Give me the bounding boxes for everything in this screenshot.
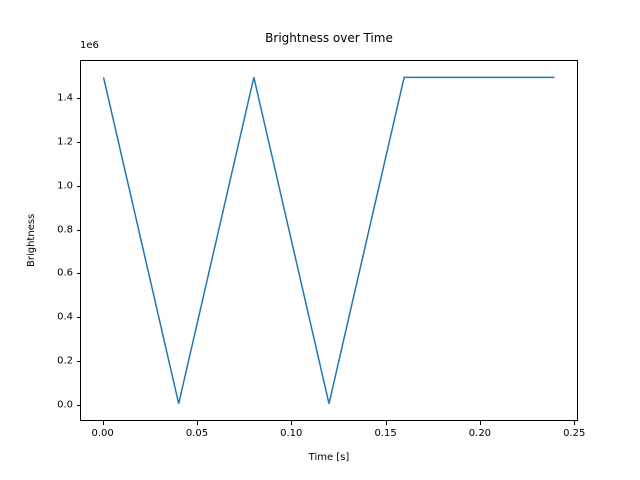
y-tick-label: 0.6: [28, 268, 73, 279]
y-tick-label: 0.4: [28, 312, 73, 323]
y-tick-mark: [77, 98, 81, 99]
y-tick-mark: [77, 361, 81, 362]
x-tick-mark: [291, 421, 292, 425]
y-tick-mark: [77, 273, 81, 274]
y-tick-label: 1.2: [28, 137, 73, 148]
x-tick-label: 0.00: [91, 428, 113, 439]
x-tick-label: 0.25: [563, 428, 585, 439]
y-tick-mark: [77, 230, 81, 231]
x-tick-mark: [103, 421, 104, 425]
figure-canvas: Brightness over Time 1e6 0.00.20.40.60.8…: [0, 0, 640, 480]
x-tick-label: 0.05: [186, 428, 208, 439]
data-line-plot: [81, 61, 577, 420]
x-axis-label: Time [s]: [80, 452, 578, 463]
x-tick-mark: [197, 421, 198, 425]
y-tick-mark: [77, 405, 81, 406]
y-tick-mark: [77, 142, 81, 143]
x-tick-label: 0.15: [374, 428, 396, 439]
chart-title: Brightness over Time: [80, 31, 578, 45]
y-tick-label: 0.2: [28, 355, 73, 366]
brightness-line-series: [104, 77, 555, 403]
y-axis-offset-label: 1e6: [80, 40, 99, 51]
x-tick-mark: [480, 421, 481, 425]
y-tick-label: 1.0: [28, 180, 73, 191]
x-tick-label: 0.20: [469, 428, 491, 439]
x-tick-label: 0.10: [280, 428, 302, 439]
y-tick-label: 1.4: [28, 93, 73, 104]
x-tick-mark: [386, 421, 387, 425]
y-tick-mark: [77, 186, 81, 187]
y-tick-label: 0.0: [28, 399, 73, 410]
plot-axes-area: [80, 60, 578, 421]
y-tick-mark: [77, 317, 81, 318]
x-tick-mark: [574, 421, 575, 425]
y-axis-label: Brightness: [26, 214, 37, 267]
